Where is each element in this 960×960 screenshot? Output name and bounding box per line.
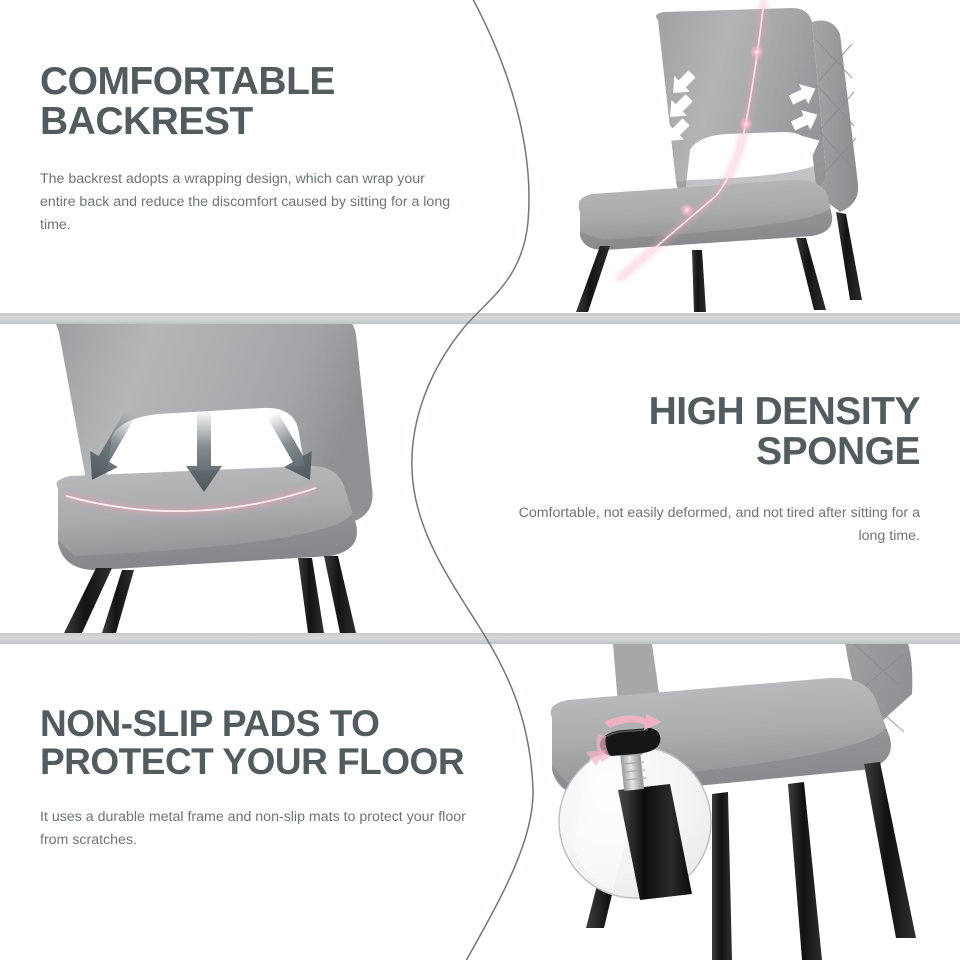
section-divider-top xyxy=(0,313,960,324)
panel-backrest-text: COMFORTABLE BACKREST The backrest adopts… xyxy=(40,62,470,237)
panel-backrest-image xyxy=(540,0,960,313)
panel-sponge-text: HIGH DENSITY SPONGE Comfortable, not eas… xyxy=(470,392,920,548)
section-divider-bottom xyxy=(0,633,960,644)
panel-sponge-body: Comfortable, not easily deformed, and no… xyxy=(490,502,920,548)
heading-line-1: NON-SLIP PADS TO xyxy=(40,703,379,744)
panel-backrest-heading: COMFORTABLE BACKREST xyxy=(40,62,470,142)
heading-line-2: SPONGE xyxy=(756,430,920,473)
panel-pads-image xyxy=(500,638,960,960)
chair-seat xyxy=(579,180,833,250)
panel-sponge-image xyxy=(0,318,470,633)
infographic-canvas: COMFORTABLE BACKREST The backrest adopts… xyxy=(0,0,960,960)
heading-line-1: HIGH DENSITY xyxy=(649,390,920,433)
heading-line-2: PROTECT YOUR FLOOR xyxy=(40,741,464,782)
panel-sponge-heading: HIGH DENSITY SPONGE xyxy=(470,392,920,472)
panel-pads-text: NON-SLIP PADS TO PROTECT YOUR FLOOR It u… xyxy=(40,705,510,852)
panel-pads-body: It uses a durable metal frame and non-sl… xyxy=(40,806,476,852)
panel-pads-heading: NON-SLIP PADS TO PROTECT YOUR FLOOR xyxy=(40,705,510,780)
panel-backrest-body: The backrest adopts a wrapping design, w… xyxy=(40,168,452,237)
heading-line-2: BACKREST xyxy=(40,100,253,143)
heading-line-1: COMFORTABLE xyxy=(40,60,335,103)
